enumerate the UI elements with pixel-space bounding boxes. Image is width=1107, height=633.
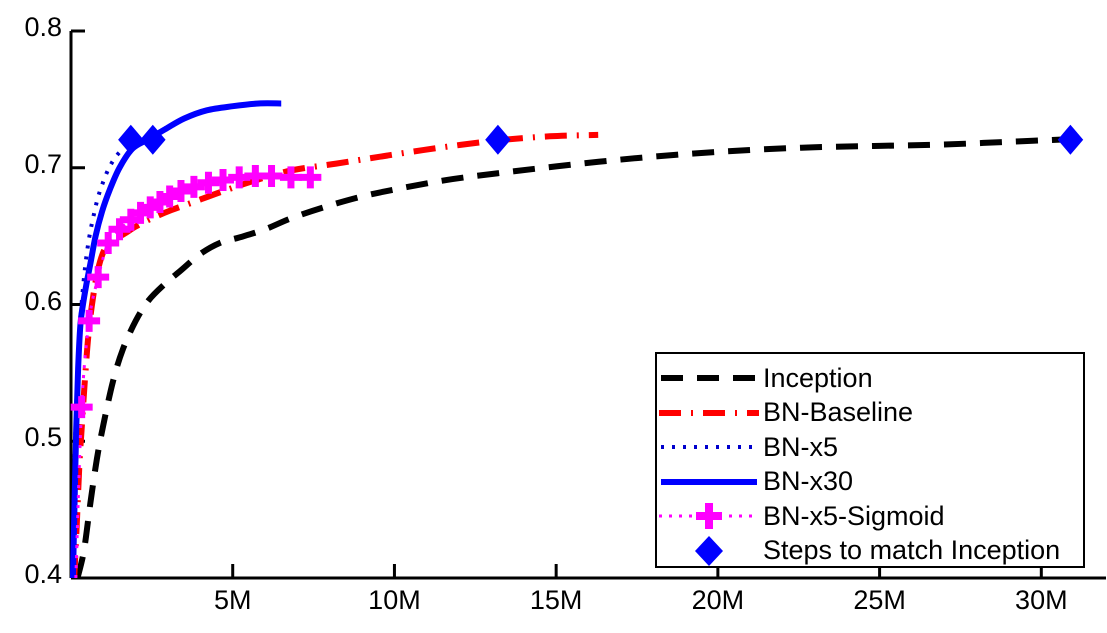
legend-swatch-icon	[657, 534, 761, 568]
legend-item-label: Steps to match Inception	[761, 537, 1060, 564]
y-tick-label: 0.6	[0, 286, 62, 317]
series-bn-x5-sigmoid	[71, 165, 322, 578]
legend-swatch-icon	[657, 361, 761, 395]
chart-legend: InceptionBN-BaselineBN-x5BN-x30BN-x5-Sig…	[655, 352, 1085, 568]
plus-marker	[97, 232, 119, 254]
y-tick-label: 0.7	[0, 149, 62, 180]
legend-item-inception[interactable]: Inception	[657, 360, 1083, 396]
x-tick-label: 20M	[658, 585, 778, 616]
y-tick-label: 0.5	[0, 422, 62, 453]
legend-item-label: BN-x30	[761, 468, 853, 495]
y-tick-label: 0.8	[0, 12, 62, 43]
legend-item-bn-x5[interactable]: BN-x5	[657, 429, 1083, 465]
legend-swatch-icon	[657, 465, 761, 499]
chart-figure: 0.40.50.60.70.8 5M10M15M20M25M30M Incept…	[0, 0, 1107, 633]
x-tick-label: 25M	[820, 585, 940, 616]
x-tick-label: 30M	[981, 585, 1101, 616]
legend-item-bn-baseline[interactable]: BN-Baseline	[657, 395, 1083, 431]
legend-item-label: Inception	[761, 365, 873, 392]
legend-item-label: BN-x5-Sigmoid	[761, 503, 945, 530]
legend-item-bn-x30[interactable]: BN-x30	[657, 464, 1083, 500]
steps-to-match-diamond-marker	[118, 125, 144, 155]
legend-swatch-icon	[657, 430, 761, 464]
match-marker-group	[118, 125, 1083, 155]
plus-marker	[261, 165, 283, 187]
steps-to-match-diamond-marker	[485, 125, 511, 155]
legend-item-bn-x5-sigmoid[interactable]: BN-x5-Sigmoid	[657, 498, 1083, 534]
x-tick-label: 15M	[496, 585, 616, 616]
x-tick-label: 10M	[334, 585, 454, 616]
legend-item-label: BN-x5	[761, 434, 838, 461]
plus-marker	[183, 176, 205, 198]
steps-to-match-diamond-marker	[1058, 125, 1084, 155]
legend-item-label: BN-Baseline	[761, 399, 913, 426]
legend-item-steps-to-match-inception[interactable]: Steps to match Inception	[657, 533, 1083, 569]
y-tick-label: 0.4	[0, 559, 62, 590]
legend-swatch-icon	[657, 396, 761, 430]
x-tick-label: 5M	[173, 585, 293, 616]
legend-swatch-icon	[657, 499, 761, 533]
